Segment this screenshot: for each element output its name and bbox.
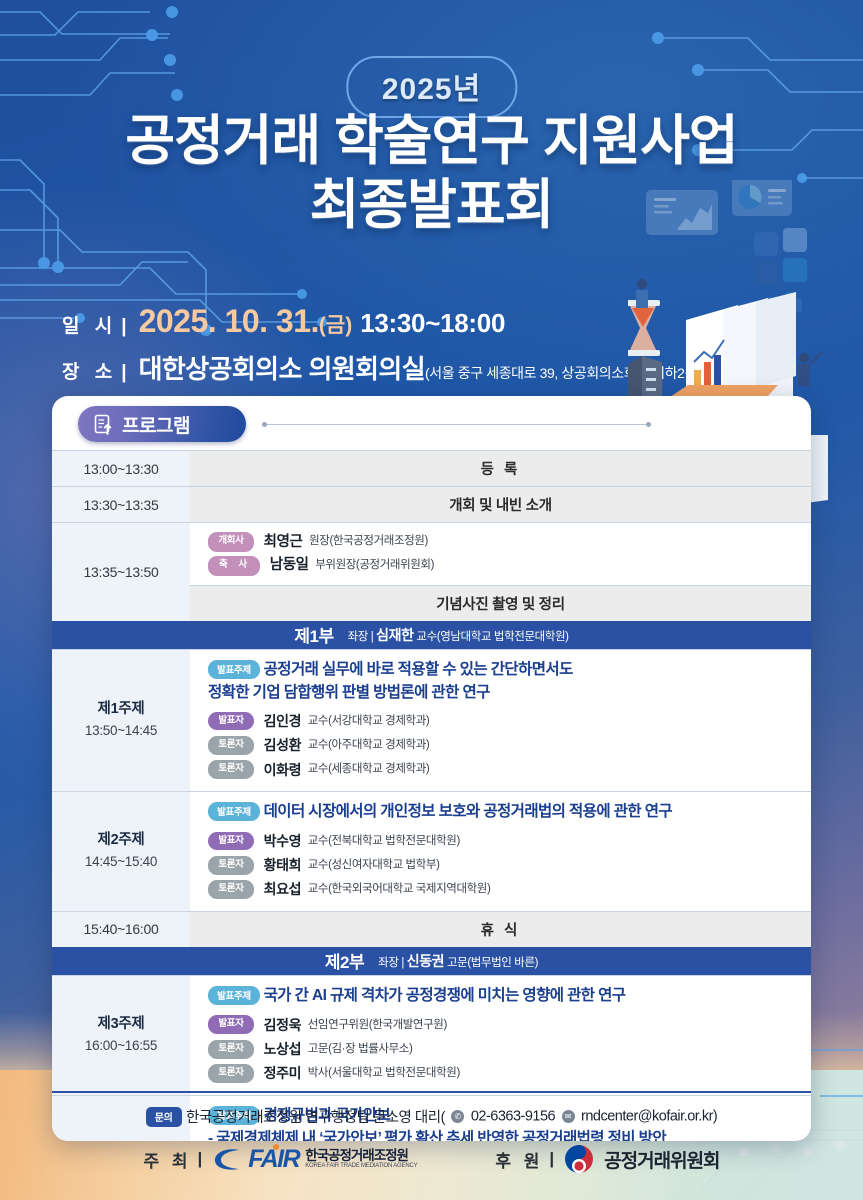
date-value: 2025. 10. 31.	[139, 303, 319, 340]
row-topic-time: 제2주제 14:45~15:40	[52, 791, 190, 911]
title-line-2: 최종발표회	[0, 174, 863, 238]
discussant-badge: 토론자	[208, 880, 254, 899]
topic-title-line: 발표주제 공정거래 실무에 바로 적용할 수 있는 간단하면서도	[208, 659, 797, 681]
session-cell: 제1부 좌장 | 심재한 교수(영남대학교 법학전문대학원)	[52, 621, 811, 650]
person-name: 최영근	[264, 534, 303, 550]
discussant-badge: 토론자	[208, 856, 254, 875]
place-address: (서울 중구 세종대로 39, 상공회의소회관 지하2층)	[425, 363, 701, 383]
host-group: 주 최 | FAIR 한국공정거래조정원 KOREA FAIR TRADE ME…	[143, 1145, 417, 1174]
person-name: 이화령	[264, 762, 301, 778]
place-separator: |	[121, 362, 126, 384]
table-row: 제1주제 13:50~14:45 발표주제 공정거래 실무에 바로 적용할 수 …	[52, 649, 811, 791]
list-item: 개회사 최영근 원장(한국공정거래조정원)	[208, 531, 811, 553]
person-affiliation: 교수(성신여자대학교 법학부)	[308, 859, 440, 871]
session-cell: 제2부 좌장 | 신동권 고문(법무법인 바른)	[52, 947, 811, 976]
person-name: 노상섭	[264, 1041, 301, 1057]
sponsor-bar: 주 최 | FAIR 한국공정거래조정원 KOREA FAIR TRADE ME…	[0, 1144, 863, 1174]
congratulation-badge: 축 사	[208, 556, 260, 576]
list-item: 발표자 김정욱 선임연구위원(한국개발연구원)	[208, 1015, 797, 1035]
fair-english-line: KOREA FAIR TRADE MEDIATION AGENCY	[305, 1163, 417, 1169]
person-name: 최요섭	[264, 881, 301, 897]
speaker-badge: 발표자	[208, 1015, 254, 1034]
host-label: 주 최	[143, 1147, 191, 1172]
date-weekday: (금)	[319, 309, 352, 339]
person-name: 정주미	[264, 1065, 301, 1081]
poster-root: 2025년 공정거래 학술연구 지원사업 최종발표회 일 시 | 2025. 1…	[0, 0, 863, 1200]
topic-name: 제3주제	[52, 1014, 190, 1036]
date-row: 일 시 | 2025. 10. 31. (금) 13:30~18:00	[62, 303, 701, 340]
discussant-badge: 토론자	[208, 1064, 254, 1083]
place-value: 대한상공회의소 의원회의실	[139, 349, 425, 386]
korea-government-emblem-icon	[564, 1144, 594, 1174]
session-bar: 제1부 좌장 | 심재한 교수(영남대학교 법학전문대학원)	[52, 621, 811, 649]
person-name: 김성환	[264, 737, 301, 753]
session-chair: 좌장 | 심재한 교수(영남대학교 법학전문대학원)	[348, 625, 569, 645]
person-affiliation: 박사(서울대학교 법학전문대학원)	[308, 1067, 460, 1079]
speaker-badge: 발표자	[208, 712, 254, 731]
place-row: 장 소 | 대한상공회의소 의원회의실 (서울 중구 세종대로 39, 상공회의…	[62, 349, 701, 386]
row-time: 13:00~13:30	[52, 451, 190, 487]
session-chair: 좌장 | 신동권 고문(법무법인 바른)	[378, 951, 538, 971]
mail-icon: ✉	[562, 1110, 575, 1123]
row-content-openings: 개회사 최영근 원장(한국공정거래조정원) 축 사 남동일 부위원장(공정거래위…	[190, 523, 811, 586]
person-name: 황태희	[264, 857, 301, 873]
topic-title-line: 발표주제 데이터 시장에서의 개인정보 보호와 공정거래법의 적용에 관한 연구	[208, 801, 797, 823]
topic-name: 제2주제	[52, 830, 190, 852]
program-header: 프로그램	[52, 396, 811, 450]
session-row-part1: 제1부 좌장 | 심재한 교수(영남대학교 법학전문대학원)	[52, 621, 811, 650]
person-name: 김인경	[264, 713, 301, 729]
support-name: 공정거래위원회	[604, 1146, 719, 1173]
table-row: 제3주제 16:00~16:55 발표주제 국가 간 AI 규제 격차가 공정경…	[52, 975, 811, 1095]
title-line-1: 공정거래 학술연구 지원사업	[0, 110, 863, 174]
person-affiliation: 교수(서강대학교 경제학과)	[308, 715, 430, 727]
program-card: 프로그램 13:00~13:30 등 록 13:30~13:35 개회 및 내빈…	[52, 396, 811, 1141]
person-name: 김정욱	[264, 1017, 301, 1033]
list-item: 발표자 박수영 교수(전북대학교 법학전문대학원)	[208, 831, 797, 851]
program-pill-label: 프로그램	[122, 411, 190, 438]
topic-time: 14:45~15:40	[52, 852, 190, 872]
topic-badge: 발표주제	[208, 802, 260, 821]
session-name: 제1부	[294, 622, 333, 647]
topic-time: 13:50~14:45	[52, 721, 190, 741]
table-row: 제2주제 14:45~15:40 발표주제 데이터 시장에서의 개인정보 보호와…	[52, 791, 811, 911]
person-affiliation: 고문(김·장 법률사무소)	[308, 1043, 413, 1055]
fair-swoosh-icon	[212, 1145, 242, 1173]
person-name: 박수영	[264, 833, 301, 849]
row-topic-content: 발표주제 공정거래 실무에 바로 적용할 수 있는 간단하면서도 정확한 기업 …	[190, 649, 811, 791]
list-item: 토론자 노상섭 고문(김·장 법률사무소)	[208, 1039, 797, 1059]
chair-label: 좌장 |	[378, 957, 404, 969]
row-content: 휴 식	[190, 911, 811, 947]
table-row: 15:40~16:00 휴 식	[52, 911, 811, 947]
host-separator: |	[197, 1149, 202, 1169]
list-item: 축 사 남동일 부위원장(공정거래위원회)	[208, 554, 811, 576]
topic-title-1: 공정거래 실무에 바로 적용할 수 있는 간단하면서도	[264, 661, 573, 678]
row-content: 등 록	[190, 451, 811, 487]
opening-badge: 개회사	[208, 532, 254, 552]
list-item: 토론자 황태희 교수(성신여자대학교 법학부)	[208, 855, 797, 875]
topic-name: 제1주제	[52, 699, 190, 721]
topic-title-1: 데이터 시장에서의 개인정보 보호와 공정거래법의 적용에 관한 연구	[264, 803, 672, 820]
list-item: 토론자 정주미 박사(서울대학교 법학전문대학원)	[208, 1063, 797, 1083]
chair-name: 심재한	[376, 627, 413, 643]
page-title: 공정거래 학술연구 지원사업 최종발표회	[0, 110, 863, 237]
row-time: 15:40~16:00	[52, 911, 190, 947]
program-divider-line	[262, 424, 651, 425]
table-row: 13:30~13:35 개회 및 내빈 소개	[52, 487, 811, 523]
event-meta: 일 시 | 2025. 10. 31. (금) 13:30~18:00 장 소 …	[62, 303, 701, 395]
session-row-part2: 제2부 좌장 | 신동권 고문(법무법인 바른)	[52, 947, 811, 976]
document-upload-icon	[94, 414, 113, 435]
row-topic-time: 제3주제 16:00~16:55	[52, 975, 190, 1095]
topic-badge: 발표주제	[208, 660, 260, 679]
person-affiliation: 선임연구위원(한국개발연구원)	[308, 1019, 447, 1031]
person-affiliation: 원장(한국공정거래조정원)	[309, 535, 428, 547]
support-group: 후 원 | 공정거래위원회	[495, 1144, 719, 1174]
program-table: 13:00~13:30 등 록 13:30~13:35 개회 및 내빈 소개 1…	[52, 450, 811, 1141]
discussant-badge: 토론자	[208, 1040, 254, 1059]
row-topic-content: 발표주제 국가 간 AI 규제 격차가 공정경쟁에 미치는 영향에 관한 연구 …	[190, 975, 811, 1095]
date-separator: |	[121, 316, 126, 338]
list-item: 토론자 김성환 교수(아주대학교 경제학과)	[208, 735, 797, 755]
row-time: 13:30~13:35	[52, 487, 190, 523]
inquiry-badge: 문의	[146, 1107, 182, 1127]
list-item: 토론자 최요섭 교수(한국외국어대학교 국제지역대학원)	[208, 879, 797, 899]
person-affiliation: 교수(세종대학교 경제학과)	[308, 763, 430, 775]
person-name: 남동일	[270, 557, 309, 573]
discussant-badge: 토론자	[208, 760, 254, 779]
contact-organization: 한국공정거래조정원 연구행정팀 문소영 대리(	[186, 1110, 445, 1126]
person-affiliation: 교수(한국외국어대학교 국제지역대학원)	[308, 883, 491, 895]
person-affiliation: 부위원장(공정거래위원회)	[315, 559, 434, 571]
table-row: 13:35~13:50 개회사 최영근 원장(한국공정거래조정원) 축 사 남동…	[52, 523, 811, 586]
table-row: 13:00~13:30 등 록	[52, 451, 811, 487]
topic-badge: 발표주제	[208, 986, 260, 1005]
list-item: 토론자 이화령 교수(세종대학교 경제학과)	[208, 760, 797, 780]
speaker-badge: 발표자	[208, 832, 254, 851]
fair-logo: FAIR 한국공정거래조정원 KOREA FAIR TRADE MEDIATIO…	[212, 1145, 417, 1174]
topic-time: 16:00~16:55	[52, 1036, 190, 1056]
fair-korean-name: 한국공정거래조정원 KOREA FAIR TRADE MEDIATION AGE…	[305, 1149, 417, 1169]
row-topic-content: 발표주제 데이터 시장에서의 개인정보 보호와 공정거래법의 적용에 관한 연구…	[190, 791, 811, 911]
contact-footer: 문의 한국공정거래조정원 연구행정팀 문소영 대리( ✆ 02-6363-915…	[52, 1091, 811, 1127]
topic-title-2: 정확한 기업 담합행위 판별 방법론에 관한 연구	[208, 682, 797, 704]
person-affiliation: 교수(전북대학교 법학전문대학원)	[308, 835, 460, 847]
chair-affiliation: 고문(법무법인 바른)	[447, 957, 538, 969]
contact-phone: 02-6363-9156	[471, 1109, 555, 1125]
person-affiliation: 교수(아주대학교 경제학과)	[308, 739, 430, 751]
year-badge: 2025년	[346, 56, 517, 118]
program-pill: 프로그램	[78, 406, 246, 442]
fair-dot-icon	[273, 1144, 279, 1150]
row-time: 13:35~13:50	[52, 523, 190, 621]
date-time-range: 13:30~18:00	[360, 308, 505, 339]
support-separator: |	[549, 1149, 554, 1169]
session-bar: 제2부 좌장 | 신동권 고문(법무법인 바른)	[52, 947, 811, 975]
row-content: 개회 및 내빈 소개	[190, 487, 811, 523]
chair-label: 좌장 |	[348, 631, 374, 643]
place-label: 장 소	[62, 357, 117, 384]
discussant-badge: 토론자	[208, 736, 254, 755]
session-name: 제2부	[325, 948, 364, 973]
contact-email: rndcenter@kofair.or.kr)	[581, 1109, 717, 1125]
list-item: 발표자 김인경 교수(서강대학교 경제학과)	[208, 711, 797, 731]
fair-korean-line: 한국공정거래조정원	[305, 1149, 417, 1163]
topic-title-line: 발표주제 국가 간 AI 규제 격차가 공정경쟁에 미치는 영향에 관한 연구	[208, 985, 797, 1007]
chair-affiliation: 교수(영남대학교 법학전문대학원)	[416, 631, 568, 643]
phone-icon: ✆	[451, 1110, 464, 1123]
support-label: 후 원	[495, 1147, 543, 1172]
topic-title-1: 국가 간 AI 규제 격차가 공정경쟁에 미치는 영향에 관한 연구	[264, 987, 626, 1004]
row-topic-time: 제1주제 13:50~14:45	[52, 649, 190, 791]
row-content: 기념사진 촬영 및 정리	[190, 585, 811, 621]
fair-wordmark: FAIR	[248, 1145, 299, 1174]
chair-name: 신동권	[407, 953, 444, 969]
topic-title-2: - 국제경제체제 내 ‘국가안보’ 평가 확산 추세 반영한 공정거래법령 정비…	[208, 1128, 797, 1141]
date-label: 일 시	[62, 311, 117, 338]
